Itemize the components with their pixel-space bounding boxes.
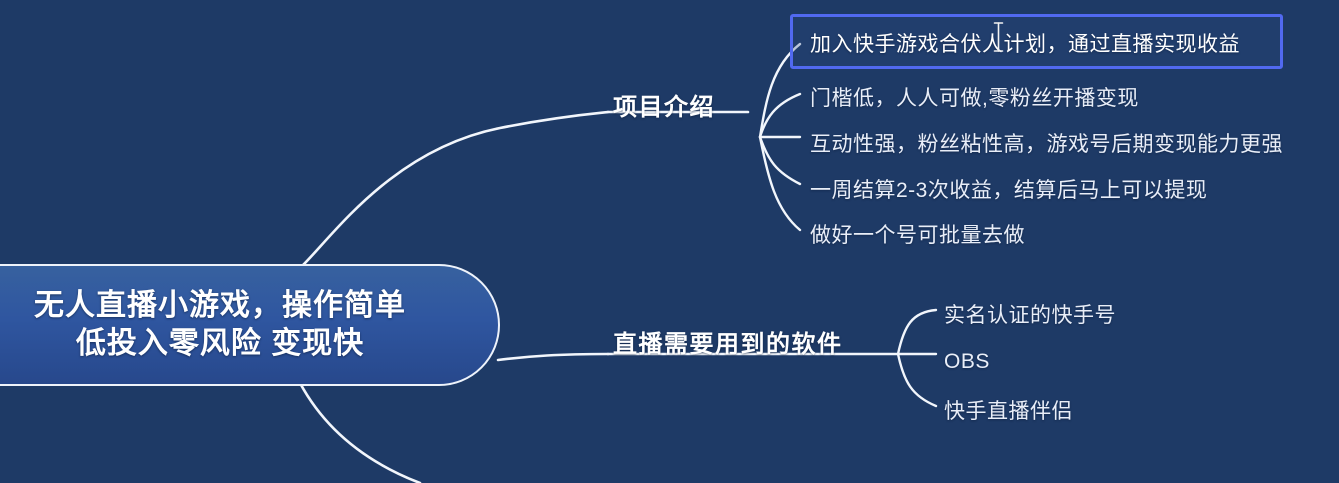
leaf-node-b1-3[interactable]: 互动性强，粉丝粘性高，游戏号后期变现能力更强	[810, 128, 1283, 158]
root-node[interactable]: 无人直播小游戏，操作简单 低投入零风险 变现快	[0, 264, 500, 386]
mindmap-canvas: 无人直播小游戏，操作简单 低投入零风险 变现快 项目介绍 加入快手游戏合伏人计划…	[0, 0, 1339, 483]
connector-lines	[0, 0, 1339, 483]
leaf-node-b2-2[interactable]: OBS	[944, 350, 990, 374]
root-title-line-1: 无人直播小游戏，操作简单	[34, 287, 406, 325]
leaf-node-b1-4[interactable]: 一周结算2-3次收益，结算后马上可以提现	[810, 174, 1207, 204]
root-title-line-2: 低投入零风险 变现快	[76, 325, 364, 363]
leaf-node-b2-1[interactable]: 实名认证的快手号	[944, 299, 1116, 329]
leaf-node-b2-3[interactable]: 快手直播伴侣	[944, 395, 1073, 425]
leaf-node-b1-5[interactable]: 做好一个号可批量去做	[810, 219, 1025, 249]
branch-title-live-software[interactable]: 直播需要用到的软件	[613, 324, 843, 359]
text-ibeam-cursor	[992, 20, 1005, 54]
leaf-node-b1-1[interactable]: 加入快手游戏合伏人计划，通过直播实现收益	[810, 28, 1240, 58]
branch-title-project-intro[interactable]: 项目介绍	[613, 87, 715, 122]
leaf-node-b1-2[interactable]: 门楷低，人人可做,零粉丝开播变现	[810, 82, 1139, 112]
